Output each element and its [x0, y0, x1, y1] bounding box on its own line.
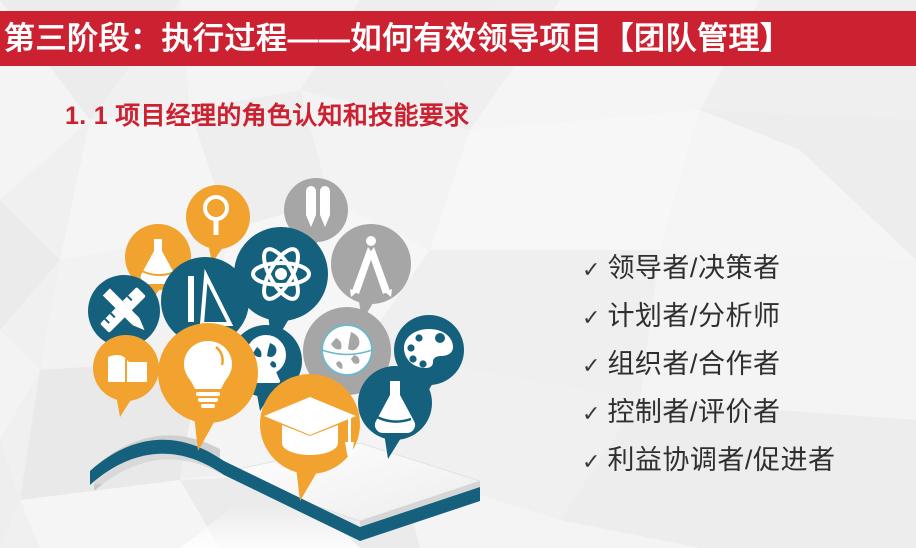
check-icon: ✓	[582, 259, 600, 281]
list-item-label: 领导者/决策者	[607, 246, 780, 285]
check-icon: ✓	[582, 307, 600, 329]
check-icon: ✓	[582, 451, 600, 473]
header-banner: 第三阶段：执行过程——如何有效领导项目【团队管理】	[0, 11, 916, 66]
list-item-label: 组织者/合作者	[607, 342, 780, 381]
list-item: ✓ 领导者/决策者	[582, 246, 902, 294]
presentation-slide: 第三阶段：执行过程——如何有效领导项目【团队管理】 1. 1 项目经理的角色认知…	[0, 0, 916, 548]
open-book-idea-illustration	[60, 175, 480, 548]
list-item: ✓ 计划者/分析师	[582, 294, 902, 342]
list-item: ✓ 组织者/合作者	[582, 342, 902, 390]
list-item: ✓ 控制者/评价者	[582, 390, 902, 438]
list-item: ✓ 利益协调者/促进者	[582, 438, 902, 486]
check-icon: ✓	[582, 403, 600, 425]
bubble-flask-dark-icon	[358, 366, 432, 459]
check-icon: ✓	[582, 355, 600, 377]
list-item-label: 利益协调者/促进者	[607, 438, 835, 477]
role-bullet-list: ✓ 领导者/决策者 ✓ 计划者/分析师 ✓ 组织者/合作者 ✓ 控制者/评价者 …	[582, 246, 902, 486]
section-subtitle: 1. 1 项目经理的角色认知和技能要求	[65, 96, 469, 132]
page-title: 第三阶段：执行过程——如何有效领导项目【团队管理】	[4, 23, 792, 54]
bubble-lightbulb-icon	[158, 323, 258, 451]
list-item-label: 控制者/评价者	[607, 390, 780, 429]
bubble-compass-icon	[331, 224, 411, 321]
list-item-label: 计划者/分析师	[607, 294, 780, 333]
bubble-folder-book-icon	[93, 335, 159, 417]
